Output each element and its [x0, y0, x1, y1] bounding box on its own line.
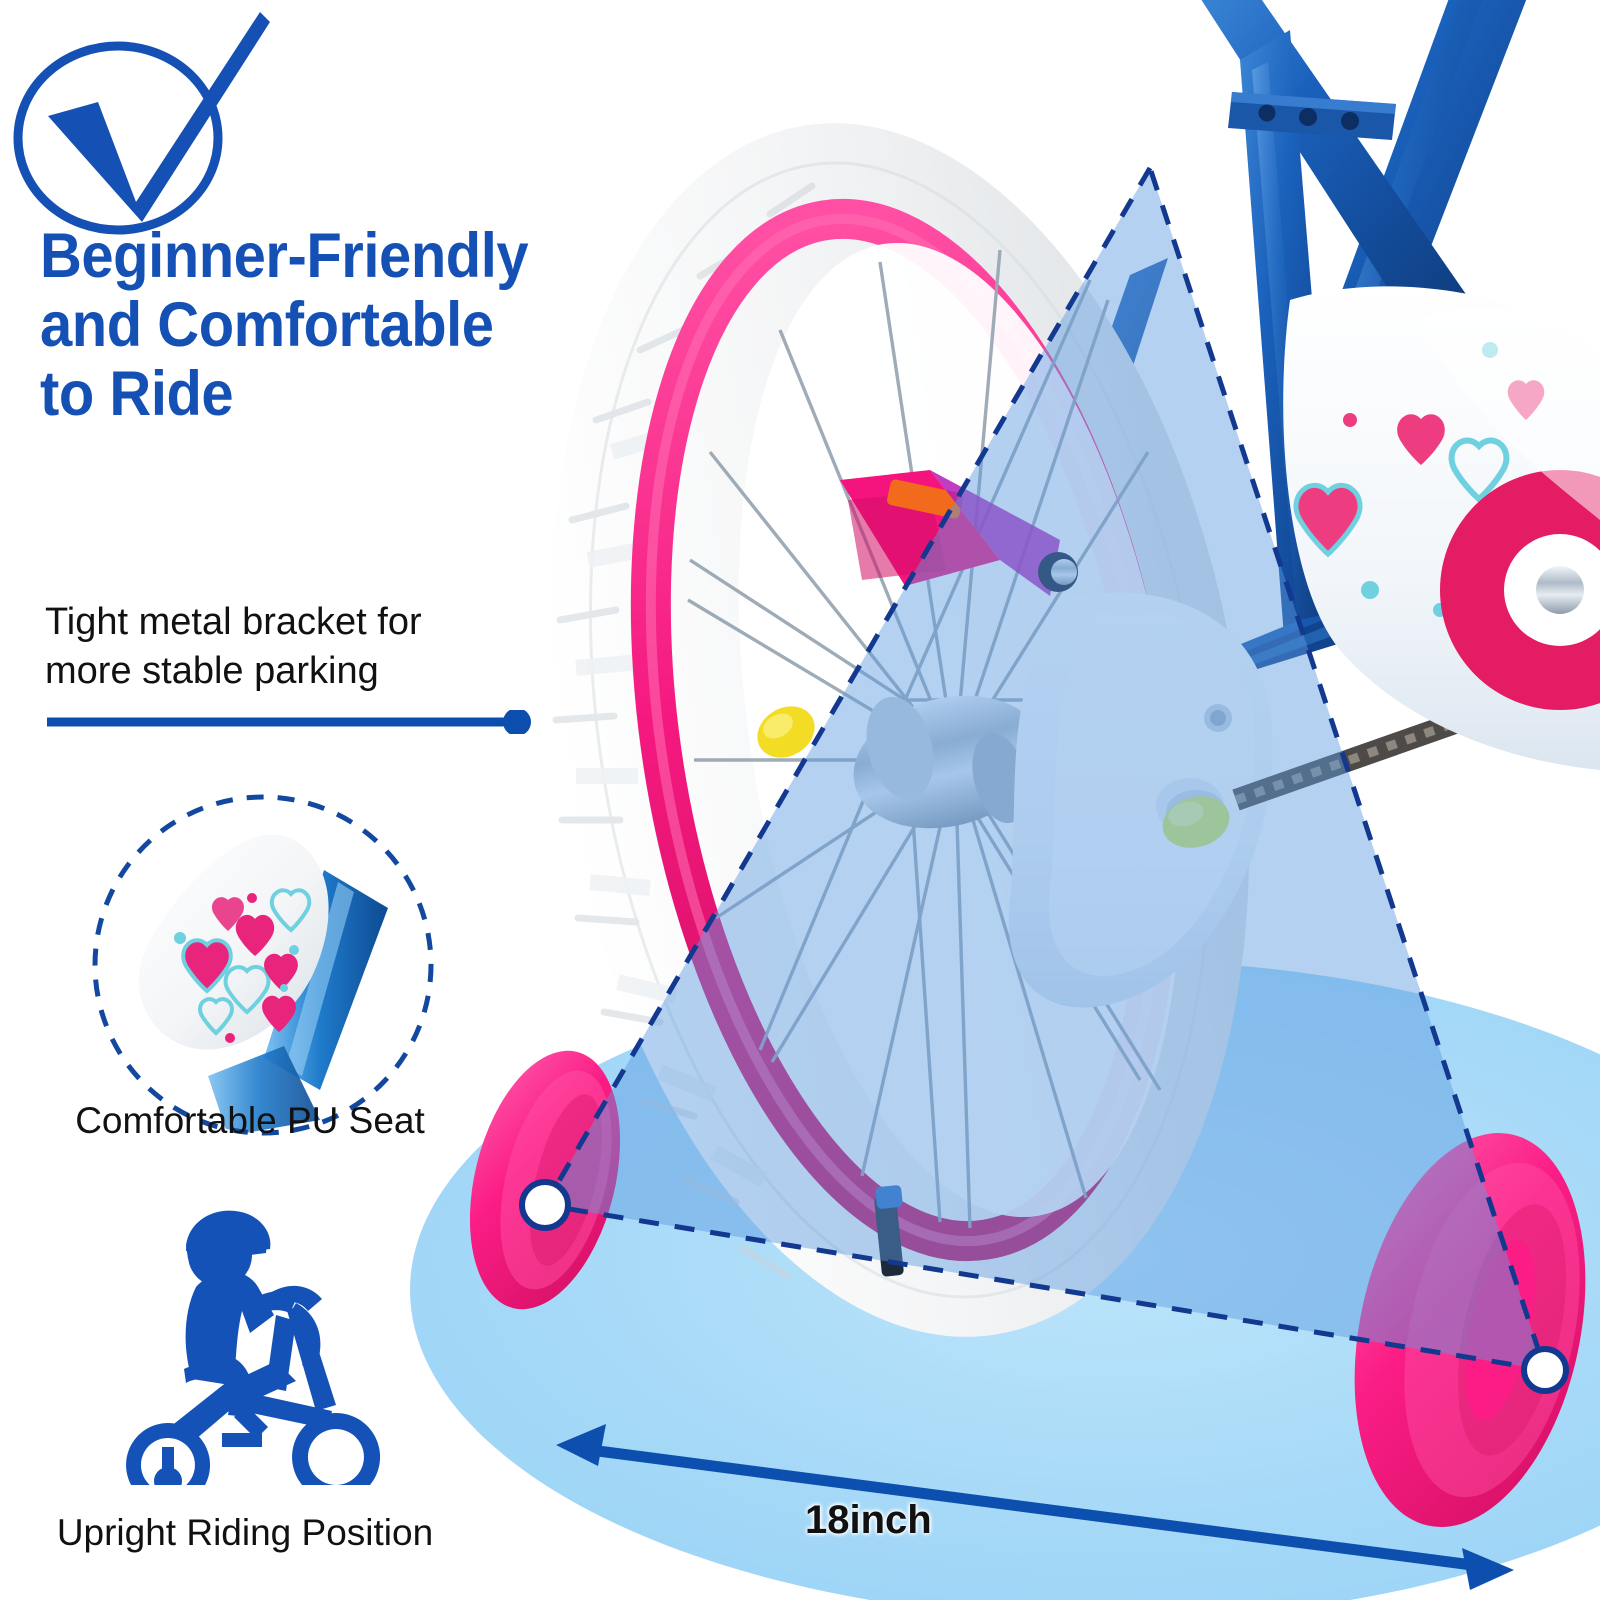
callout-leader-line — [45, 710, 535, 734]
child-riding-bike-silhouette-icon — [100, 1195, 430, 1485]
heart-chainguard — [1283, 286, 1600, 770]
dimension-label: 18inch — [805, 1498, 932, 1543]
checkmark-circle-icon — [8, 6, 278, 246]
feature-panel: Beginner-Friendly and Comfortable to Rid… — [0, 0, 1600, 1600]
callout-bracket-text: Tight metal bracket for more stable park… — [45, 598, 565, 696]
seat-inset-circle — [88, 790, 438, 1140]
callout-riding-position-label: Upright Riding Position — [0, 1512, 490, 1554]
callout-seat-label: Comfortable PU Seat — [0, 1100, 500, 1142]
leader-endpoint-dot — [503, 710, 531, 734]
page-title: Beginner-Friendly and Comfortable to Rid… — [40, 222, 684, 429]
